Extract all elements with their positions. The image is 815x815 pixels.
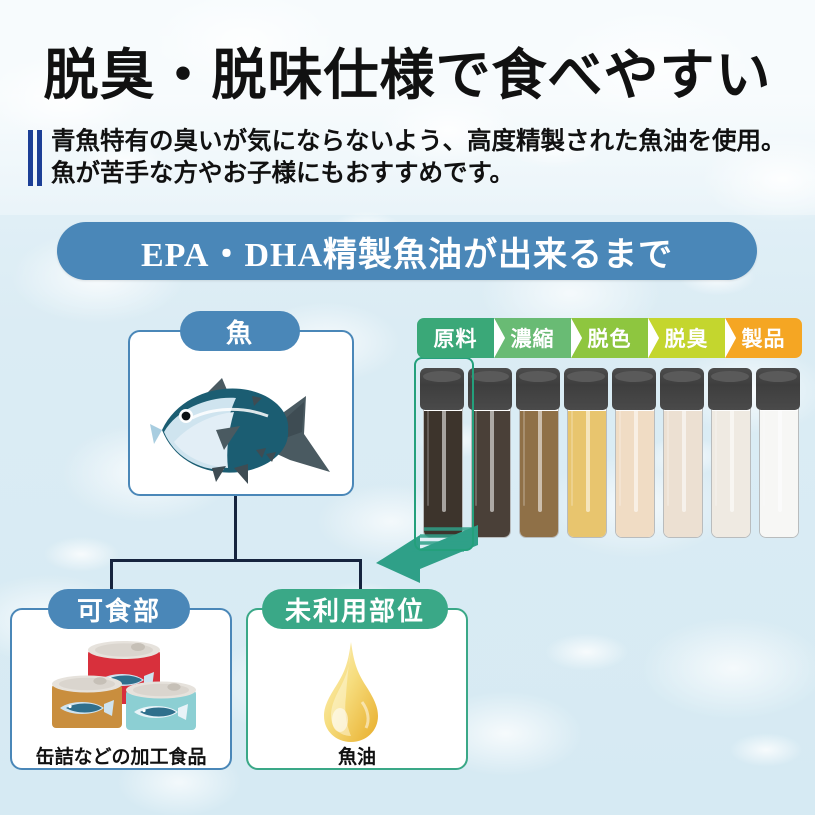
- raw-material-highlight-box: [414, 357, 474, 551]
- process-stage-label: 原料: [434, 323, 478, 353]
- connector-vertical-trunk: [234, 491, 237, 559]
- vial-4: [562, 366, 610, 538]
- vial-shine-secondary: [475, 396, 477, 506]
- vial-5: [610, 366, 658, 538]
- unused-part-label: 未利用部位: [285, 591, 425, 628]
- vial-shine-secondary: [523, 396, 525, 506]
- infographic-page: 脱臭・脱味仕様で食べやすい 青魚特有の臭いが気にならないよう、高度精製された魚油…: [0, 0, 815, 815]
- process-stage-4: 脱臭: [648, 318, 725, 358]
- unused-part-caption: 魚油: [248, 742, 466, 769]
- vial-shine: [634, 392, 638, 512]
- marker-bar-1: [28, 130, 33, 186]
- vial-cap: [516, 368, 560, 410]
- section-banner-label: EPA・DHA精製魚油が出来るまで: [141, 227, 673, 276]
- vial-shine-secondary: [667, 396, 669, 506]
- process-stage-label: 脱臭: [665, 323, 709, 353]
- vial-cap: [468, 368, 512, 410]
- process-stage-label: 濃縮: [511, 323, 555, 353]
- subtitle-text: 青魚特有の臭いが気にならないよう、高度精製された魚油を使用。 魚が苦手な方やお子…: [51, 126, 786, 190]
- subtitle-line-2: 魚が苦手な方やお子様にもおすすめです。: [51, 158, 786, 190]
- process-stage-label: 製品: [742, 323, 786, 353]
- edible-part-card: 缶詰などの加工食品: [10, 608, 232, 770]
- vial-shine: [538, 392, 542, 512]
- vial-8: [754, 366, 802, 538]
- vial-6: [658, 366, 706, 538]
- vial-3: [514, 366, 562, 538]
- vial-shine-secondary: [571, 396, 573, 506]
- section-banner: EPA・DHA精製魚油が出来るまで: [57, 222, 757, 280]
- vial-shine: [586, 392, 590, 512]
- vial-cap: [564, 368, 608, 410]
- vial-cap: [612, 368, 656, 410]
- vial-row: [418, 366, 802, 538]
- vial-shine: [490, 392, 494, 512]
- vial-shine: [778, 392, 782, 512]
- vial-cap: [756, 368, 800, 410]
- oil-droplet-illustration: [306, 640, 396, 744]
- canned-food-illustration: [34, 632, 214, 740]
- subtitle-marker-bars: [28, 126, 42, 190]
- fish-card-label: 魚: [226, 313, 254, 350]
- process-stage-1: 原料: [417, 318, 494, 358]
- vial-shine-secondary: [715, 396, 717, 506]
- fish-card: [128, 330, 354, 496]
- vial-cap: [660, 368, 704, 410]
- edible-part-label: 可食部: [77, 591, 161, 628]
- vial-shine: [730, 392, 734, 512]
- marker-bar-2: [37, 130, 42, 186]
- fish-card-pill: 魚: [180, 311, 300, 351]
- vial-shine-secondary: [619, 396, 621, 506]
- unused-part-pill: 未利用部位: [262, 589, 448, 629]
- page-title: 脱臭・脱味仕様で食べやすい: [0, 30, 815, 110]
- vial-shine: [682, 392, 686, 512]
- vial-7: [706, 366, 754, 538]
- process-stage-5: 製品: [725, 318, 802, 358]
- process-stage-2: 濃縮: [494, 318, 571, 358]
- vial-shine-secondary: [763, 396, 765, 506]
- fish-illustration: [144, 368, 340, 494]
- unused-part-card: 魚油: [246, 608, 468, 770]
- process-stage-3: 脱色: [571, 318, 648, 358]
- edible-part-caption: 缶詰などの加工食品: [12, 742, 230, 769]
- subtitle-line-1: 青魚特有の臭いが気にならないよう、高度精製された魚油を使用。: [51, 126, 786, 158]
- subtitle-block: 青魚特有の臭いが気にならないよう、高度精製された魚油を使用。 魚が苦手な方やお子…: [28, 126, 786, 190]
- edible-part-pill: 可食部: [48, 589, 190, 629]
- process-stage-label: 脱色: [588, 323, 632, 353]
- vial-cap: [708, 368, 752, 410]
- process-stage-bar: 原料濃縮脱色脱臭製品: [417, 318, 802, 358]
- connector-horizontal: [110, 559, 362, 562]
